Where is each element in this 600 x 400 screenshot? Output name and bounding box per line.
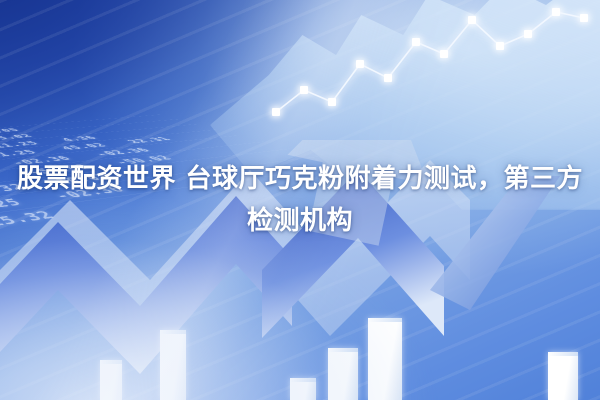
bar-column: [290, 378, 316, 400]
glowing-line-chart: [270, 0, 600, 144]
stock-banner-image: -50.02 -02.36 21.05 -11.25 -02.35 45.02 …: [0, 0, 600, 400]
bar-column: [160, 330, 186, 400]
ticker-value: 21.05: [0, 128, 22, 135]
bar-column: [368, 318, 402, 400]
bar-column: [100, 360, 122, 400]
title-line-1: 股票配资世界 台球厅巧克粉附着力测试，第三方: [0, 158, 600, 200]
line-chart-series: [272, 8, 588, 116]
bar-column: [328, 348, 358, 400]
banner-title: 股票配资世界 台球厅巧克粉附着力测试，第三方 检测机构: [0, 158, 600, 242]
bar-column: [548, 352, 578, 400]
title-line-2: 检测机构: [0, 200, 600, 242]
